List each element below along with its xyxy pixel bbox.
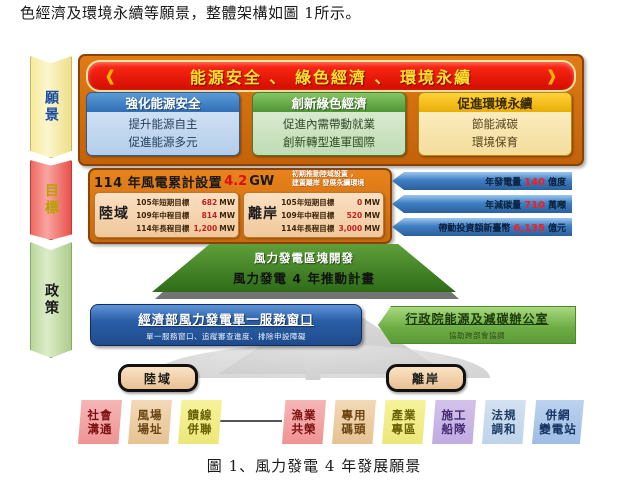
badge-unit: 萬噸 — [548, 198, 566, 211]
policy-trapezoid-line2: 風力發電 4 年推動計畫 — [233, 268, 375, 287]
policy-trapezoid-line1: 風力發電區塊開發 — [254, 250, 354, 266]
goal-card-onshore: 陸域 105年短期目標 682 MW 109年中程目標 814 MW 114年長… — [94, 192, 239, 238]
rail-label-goal: 目標 — [30, 160, 72, 240]
goal-card-onshore-title: 陸域 — [99, 203, 129, 223]
vision-banner: ❰ 能源安全 、 綠色經濟 、 環境永續 ❱ — [86, 60, 576, 92]
chip-line1: 饋線 — [188, 408, 213, 422]
chip-line2: 變電站 — [539, 422, 577, 436]
vision-box-energy-security: 強化能源安全 提升能源自主 促進能源多元 — [86, 92, 240, 156]
chip-feeder-interconnection: 饋線 併聯 — [178, 400, 222, 444]
goal-row-value: 682 — [191, 196, 217, 209]
policy-trapezoid: 風力發電區塊開發 風力發電 4 年推動計畫 — [152, 244, 456, 292]
goal-row: 114年長程目標 1,200 MW — [135, 222, 235, 235]
goal-row-label: 105年短期目標 — [281, 196, 334, 209]
badge-label: 年發電量 — [485, 175, 521, 188]
rail-label-vision-text: 願景 — [43, 90, 59, 124]
goal-row-unit: MW — [219, 222, 235, 235]
rail-label-policy: 政策 — [30, 242, 72, 358]
banner-paren-left-icon: ❰ — [104, 67, 117, 85]
pill-onshore: 陸域 — [118, 364, 198, 392]
goal-row-unit: MW — [364, 209, 380, 222]
vision-box-environment-body: 節能減碳 環境保育 — [419, 112, 571, 155]
chip-line2: 碼頭 — [342, 422, 367, 436]
goal-badge-investment: 帶動投資額新臺幣 6,135 億元 — [392, 218, 572, 236]
document-intro-line: 色經濟及環境永續等願景，整體架構如圖 1所示。 — [20, 2, 610, 23]
chip-dedicated-wharf: 專用 碼頭 — [332, 400, 376, 444]
vision-box-energy-security-body: 提升能源自主 促進能源多元 — [87, 112, 239, 155]
goal-row: 105年短期目標 682 MW — [135, 196, 235, 209]
chip-line2: 併聯 — [188, 422, 213, 436]
vision-box-green-economy-head: 創新綠色經濟 — [253, 93, 405, 112]
chip-line1: 漁業 — [292, 408, 317, 422]
vision-box-energy-security-line2: 促進能源多元 — [129, 134, 198, 151]
policy-box-ey-office: 行政院能源及減碳辦公室 協助跨部會協調 — [378, 306, 576, 344]
goal-row-value: 0 — [336, 196, 362, 209]
goal-row-unit: MW — [364, 196, 380, 209]
goal-row: 105年短期目標 0 MW — [284, 196, 380, 209]
policy-box-moea-subtitle: 單一服務窗口、追蹤審查進度、排除申設障礙 — [146, 331, 306, 342]
chip-line2: 專區 — [392, 422, 417, 436]
goal-card-offshore: 離岸 105年短期目標 0 MW 109年中程目標 520 MW 114年長程目… — [243, 192, 384, 238]
goal-header-value: 4.2 — [224, 174, 247, 189]
goal-card-offshore-title: 離岸 — [248, 203, 278, 223]
badge-value: 6,135 — [513, 223, 545, 234]
badge-label: 年減碳量 — [485, 198, 521, 211]
goal-row-value: 814 — [191, 209, 217, 222]
chip-line1: 併網 — [546, 408, 571, 422]
vision-box-green-economy: 創新綠色經濟 促進內需帶動就業 創新轉型進軍國際 — [252, 92, 406, 156]
policy-box-ey-subtitle: 協助跨部會協調 — [449, 330, 505, 341]
chip-line2: 場址 — [138, 422, 163, 436]
rail-label-goal-text: 目標 — [43, 183, 59, 217]
goal-row-unit: MW — [219, 209, 235, 222]
policy-box-ey-title: 行政院能源及減碳辦公室 — [405, 310, 548, 327]
vision-box-green-economy-line2: 創新轉型進軍國際 — [283, 134, 375, 151]
goal-badge-annual-generation: 年發電量 140 億度 — [392, 172, 572, 190]
chip-line1: 專用 — [342, 408, 367, 422]
rail-label-policy-text: 政策 — [43, 283, 59, 317]
chip-fishery-coexistence: 漁業 共榮 — [282, 400, 326, 444]
figure-caption: 圖 1、風力發電 4 年發展願景 — [0, 455, 628, 476]
chip-industrial-zone: 產業 專區 — [382, 400, 426, 444]
vision-box-green-economy-body: 促進內需帶動就業 創新轉型進軍國際 — [253, 112, 405, 155]
chip-grid-substation: 併網 變電站 — [532, 400, 584, 444]
goal-row: 109年中程目標 520 MW — [284, 209, 380, 222]
chip-line2: 溝通 — [88, 422, 113, 436]
goal-row: 114年長程目標 3,000 MW — [284, 222, 380, 235]
chip-line1: 產業 — [392, 408, 417, 422]
chip-social-communication: 社會 溝通 — [78, 400, 122, 444]
policy-box-moea-title: 經濟部風力發電單一服務窗口 — [138, 309, 314, 328]
pill-offshore-label: 離岸 — [412, 370, 440, 387]
badge-unit: 億元 — [548, 221, 566, 234]
chip-wind-farm-site: 風場 場址 — [128, 400, 172, 444]
chip-construction-fleet: 施工 船隊 — [432, 400, 476, 444]
vision-box-environment-head: 促進環境永續 — [419, 93, 571, 112]
goal-note-line2: 建置離岸 發展永續環境 — [292, 179, 388, 188]
goal-header-unit: GW — [249, 174, 274, 189]
banner-paren-right-icon: ❱ — [545, 67, 558, 85]
goal-row-label: 114年長程目標 — [136, 222, 189, 235]
badge-unit: 億度 — [548, 175, 566, 188]
policy-box-moea-window: 經濟部風力發電單一服務窗口 單一服務窗口、追蹤審查進度、排除申設障礙 — [90, 304, 362, 346]
badge-value: 140 — [524, 177, 545, 188]
pill-offshore: 離岸 — [386, 364, 466, 392]
vision-box-energy-security-line1: 提升能源自主 — [129, 116, 198, 133]
goal-row-label: 109年中程目標 — [281, 209, 334, 222]
badge-label: 帶動投資額新臺幣 — [438, 221, 510, 234]
vision-box-green-economy-line1: 促進內需帶動就業 — [283, 116, 375, 133]
badge-value: 710 — [524, 200, 545, 211]
goal-row-unit: MW — [364, 222, 380, 235]
goal-row-value: 3,000 — [336, 222, 362, 235]
chip-regulatory-harmonization: 法規 調和 — [482, 400, 526, 444]
chip-line2: 船隊 — [442, 422, 467, 436]
goal-row-value: 520 — [336, 209, 362, 222]
goal-header-main: 114 年風電累計設置 — [94, 172, 222, 191]
vision-box-energy-security-head: 強化能源安全 — [87, 93, 239, 112]
goal-row: 109年中程目標 814 MW — [135, 209, 235, 222]
figure-wind-power-vision: 願景 目標 政策 ❰ 能源安全 、 綠色經濟 、 環境永續 ❱ 強化能源安全 提… — [0, 48, 628, 448]
chip-line1: 施工 — [442, 408, 467, 422]
vision-box-environment-line2: 環境保育 — [472, 134, 518, 151]
goal-badge-carbon-reduction: 年減碳量 710 萬噸 — [392, 195, 572, 213]
rail-label-vision: 願景 — [30, 56, 72, 158]
goal-row-label: 105年短期目標 — [136, 196, 189, 209]
vision-box-environment: 促進環境永續 節能減碳 環境保育 — [418, 92, 572, 156]
pill-onshore-label: 陸域 — [144, 370, 172, 387]
goal-note: 初期推動陸域設置 ， 建置離岸 發展永續環境 — [292, 170, 388, 189]
vision-box-environment-line1: 節能減碳 — [472, 116, 518, 133]
chip-line2: 調和 — [492, 422, 517, 436]
goal-card-offshore-rows: 105年短期目標 0 MW 109年中程目標 520 MW 114年長程目標 3… — [284, 196, 380, 235]
goal-row-unit: MW — [219, 196, 235, 209]
goal-card-onshore-rows: 105年短期目標 682 MW 109年中程目標 814 MW 114年長程目標… — [135, 196, 235, 235]
goal-row-label: 109年中程目標 — [136, 209, 189, 222]
goal-row-value: 1,200 — [191, 222, 217, 235]
chip-line1: 風場 — [138, 408, 163, 422]
vision-banner-text: 能源安全 、 綠色經濟 、 環境永續 — [190, 64, 472, 88]
chip-line1: 社會 — [88, 408, 113, 422]
goal-row-label: 114年長程目標 — [281, 222, 334, 235]
chip-line2: 共榮 — [292, 422, 317, 436]
chip-line1: 法規 — [492, 408, 517, 422]
